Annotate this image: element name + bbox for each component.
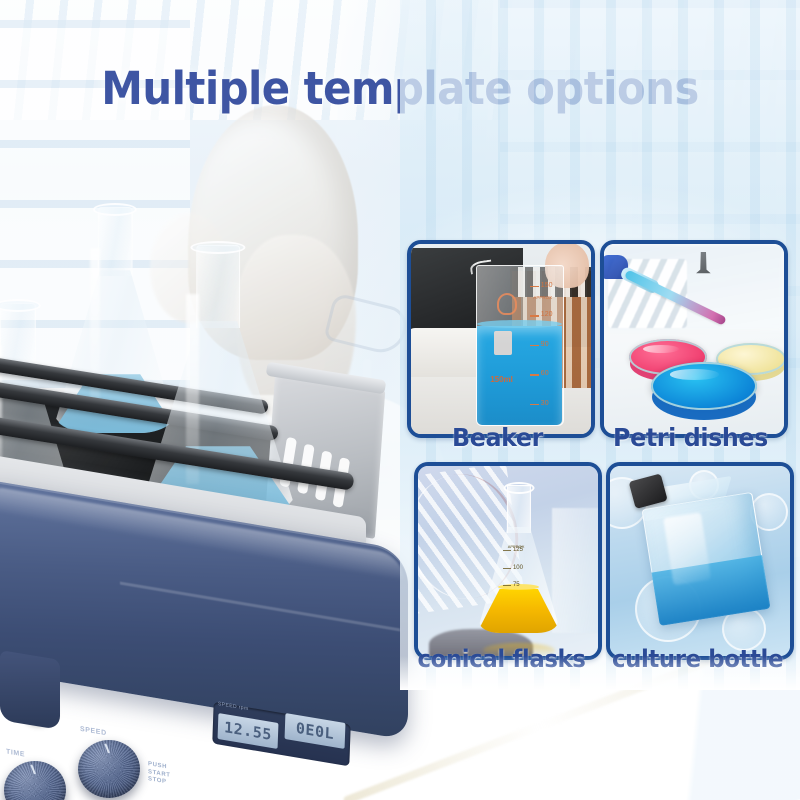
flask-rim <box>93 203 137 216</box>
beaker-volume-label: 150ml <box>490 375 513 384</box>
flask-neck <box>98 207 133 276</box>
graduation-label: 125 <box>513 547 523 553</box>
graduation-label: 30 <box>541 400 549 407</box>
flask-neck <box>196 245 240 328</box>
caption-petri-dishes: Petri dishes <box>598 423 783 452</box>
graduation-label: 120 <box>541 311 553 318</box>
flask-graduations: 125 100 75 <box>503 550 543 589</box>
template-gallery: 150ml APPROX 150 120 90 60 30 <box>400 0 800 690</box>
knob-tick <box>30 764 36 774</box>
dish-highlight <box>670 369 719 380</box>
graduation-label: 75 <box>513 582 520 588</box>
poster-canvas: SPEED rpm 12.55 0E0L TIME SPEED PUSHSTAR… <box>0 0 800 800</box>
gallery-card-conical-flask[interactable]: APPROX 125 100 75 <box>414 462 602 660</box>
knob-tick <box>104 743 110 753</box>
gallery-bottom-fade <box>400 656 800 690</box>
conical-flask-glass: APPROX 125 100 75 <box>479 485 558 633</box>
graduation-label: 150 <box>541 282 553 289</box>
gallery-card-beaker[interactable]: 150ml APPROX 150 120 90 60 30 <box>407 240 595 438</box>
flask-rim <box>503 482 534 494</box>
flask-rim <box>190 241 245 254</box>
culture-bottle-body <box>641 492 770 626</box>
beaker-label-patch <box>494 331 512 355</box>
speed-knob[interactable] <box>78 740 140 798</box>
shaker-foot <box>0 650 60 730</box>
gallery-card-petri-dishes[interactable] <box>600 240 788 438</box>
petri-dish-blue <box>651 362 757 410</box>
dish-highlight <box>643 345 679 353</box>
caption-beaker: Beaker <box>405 423 590 452</box>
graduation-label: 90 <box>541 341 549 348</box>
push-start-stop-label: PUSHSTARTSTOP <box>148 761 171 787</box>
beaker-logo-icon <box>497 293 517 315</box>
orbital-shaker: SPEED rpm 12.55 0E0L TIME SPEED PUSHSTAR… <box>0 185 440 705</box>
graduation-label: 60 <box>541 370 549 377</box>
gallery-card-culture-bottle[interactable] <box>606 462 794 660</box>
background-shelf <box>552 508 602 633</box>
graduation-label: 100 <box>513 565 523 571</box>
gallery-grid: 150ml APPROX 150 120 90 60 30 <box>400 0 800 690</box>
beaker-graduations: 150 120 90 60 30 <box>530 286 577 404</box>
